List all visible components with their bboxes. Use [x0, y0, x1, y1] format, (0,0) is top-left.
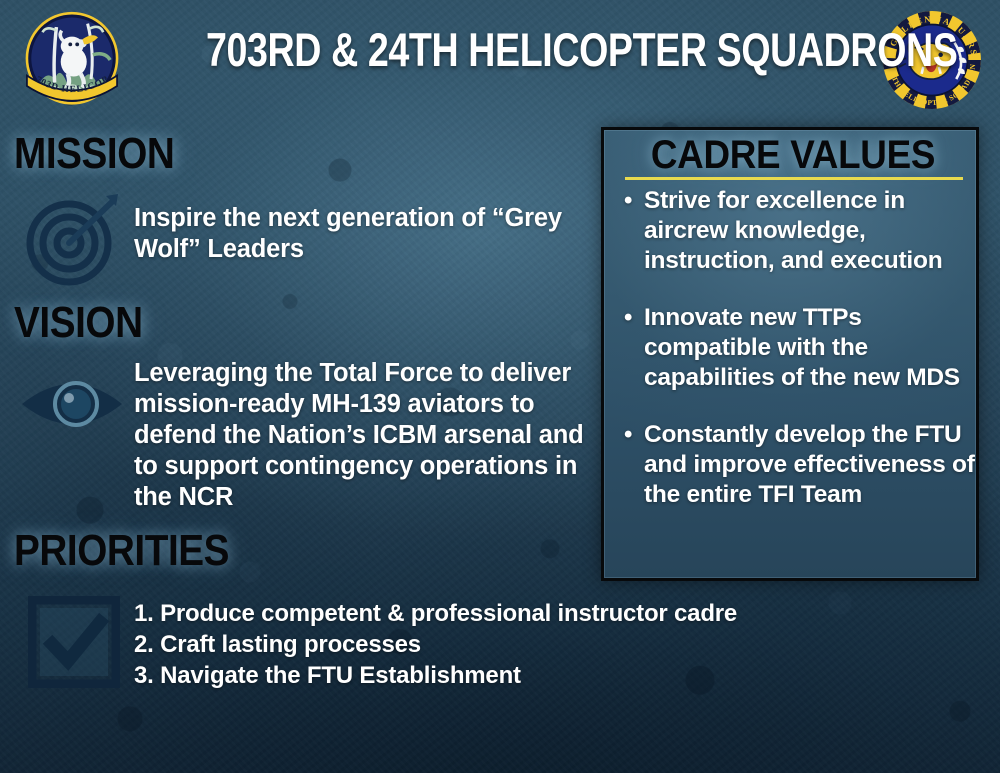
703d-helicopter-squadron-emblem-icon: 703D HELICOPTER SQ [20, 8, 124, 112]
cadre-value-item-3: • Constantly develop the FTU and improve… [611, 420, 979, 510]
cadre-values-heading: CADRE VALUES [619, 133, 967, 177]
mission-text: Inspire the next generation of “Grey Wol… [134, 203, 574, 265]
cadre-values-panel: CADRE VALUES • Strive for excellence in … [601, 127, 979, 581]
priority-item-3: 3. Navigate the FTU Establishment [134, 660, 604, 691]
mission-heading: MISSION [14, 131, 174, 177]
target-icon [22, 190, 122, 290]
cadre-value-item-2: • Innovate new TTPs compatible with the … [611, 303, 979, 393]
checkbox-check-icon [28, 596, 120, 688]
bullet-icon: • [624, 303, 632, 333]
cadre-value-text-1: Strive for excellence in aircrew knowled… [644, 187, 942, 274]
vision-text: Leveraging the Total Force to deliver mi… [134, 358, 604, 513]
bullet-icon: • [624, 420, 632, 450]
cadre-values-list: • Strive for excellence in aircrew knowl… [611, 186, 979, 537]
cadre-value-text-2: Innovate new TTPs compatible with the ca… [644, 304, 960, 391]
eye-icon [18, 364, 126, 444]
cadre-values-underline-rule [625, 177, 963, 180]
slide-header: 703D HELICOPTER SQ [0, 0, 1000, 118]
priorities-list: 1. Produce competent & professional inst… [134, 598, 604, 691]
slide-canvas: 703D HELICOPTER SQ [0, 0, 1000, 773]
vision-heading: VISION [14, 300, 143, 346]
priorities-heading: PRIORITIES [14, 528, 229, 574]
bullet-icon: • [624, 186, 632, 216]
priority-item-1: 1. Produce competent & professional inst… [134, 598, 604, 629]
priority-item-2: 2. Craft lasting processes [134, 629, 604, 660]
cadre-value-item-1: • Strive for excellence in aircrew knowl… [611, 186, 979, 276]
page-title: 703RD & 24TH HELICOPTER SQUADRONS [206, 22, 798, 78]
cadre-value-text-3: Constantly develop the FTU and improve e… [644, 421, 975, 508]
